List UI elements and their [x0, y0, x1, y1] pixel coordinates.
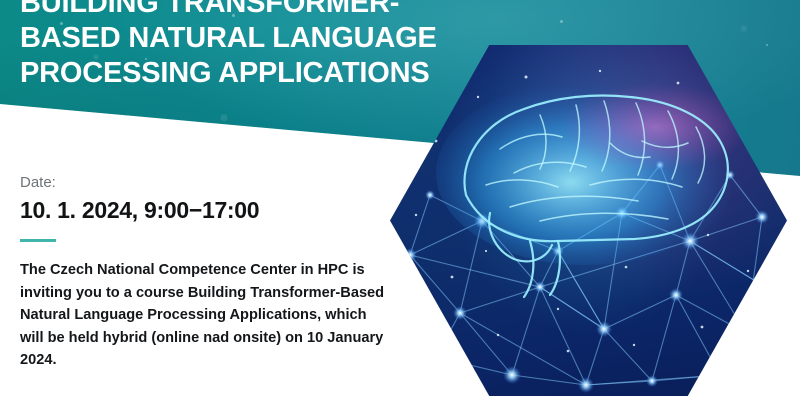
- date-label: Date:: [20, 174, 56, 192]
- poster-body-text: The Czech National Competence Center in …: [20, 259, 390, 372]
- title-line-2: BASED NATURAL LANGUAGE: [20, 21, 450, 56]
- title-line-3: PROCESSING APPLICATIONS: [20, 56, 450, 91]
- course-announcement-poster: BUILDING TRANSFORMER- BASED NATURAL LANG…: [0, 0, 800, 400]
- title-line-1: BUILDING TRANSFORMER-: [20, 0, 450, 21]
- date-value: 10. 1. 2024, 9:00−17:00: [20, 196, 259, 224]
- teal-divider-rule: [20, 239, 56, 242]
- poster-title: BUILDING TRANSFORMER- BASED NATURAL LANG…: [20, 0, 450, 91]
